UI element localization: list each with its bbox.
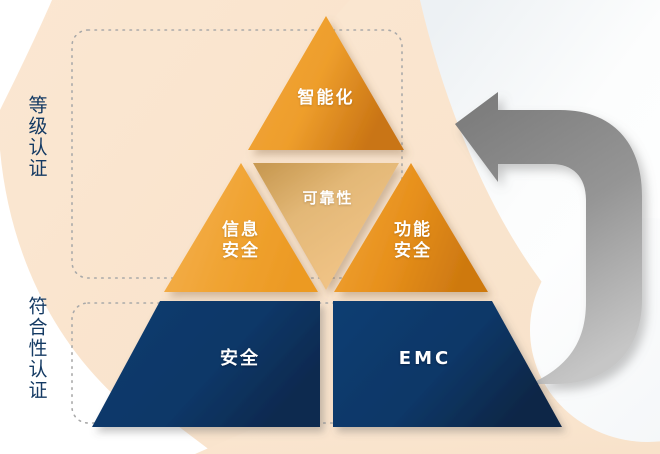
compliance-certification-label: 符合性认证 — [26, 296, 47, 401]
pyramid-tier-top[interactable] — [248, 16, 404, 150]
pyramid-artwork — [0, 0, 660, 454]
level-certification-label: 等级认证 — [26, 95, 47, 179]
pyramid-tier-bottom-emc[interactable] — [333, 301, 562, 427]
diagram-canvas: 智能化 信息 安全 可靠性 功能 安全 安全 EMC 等级认证 符合性认证 — [0, 0, 660, 454]
pyramid-tier-bottom-safety[interactable] — [92, 301, 320, 427]
